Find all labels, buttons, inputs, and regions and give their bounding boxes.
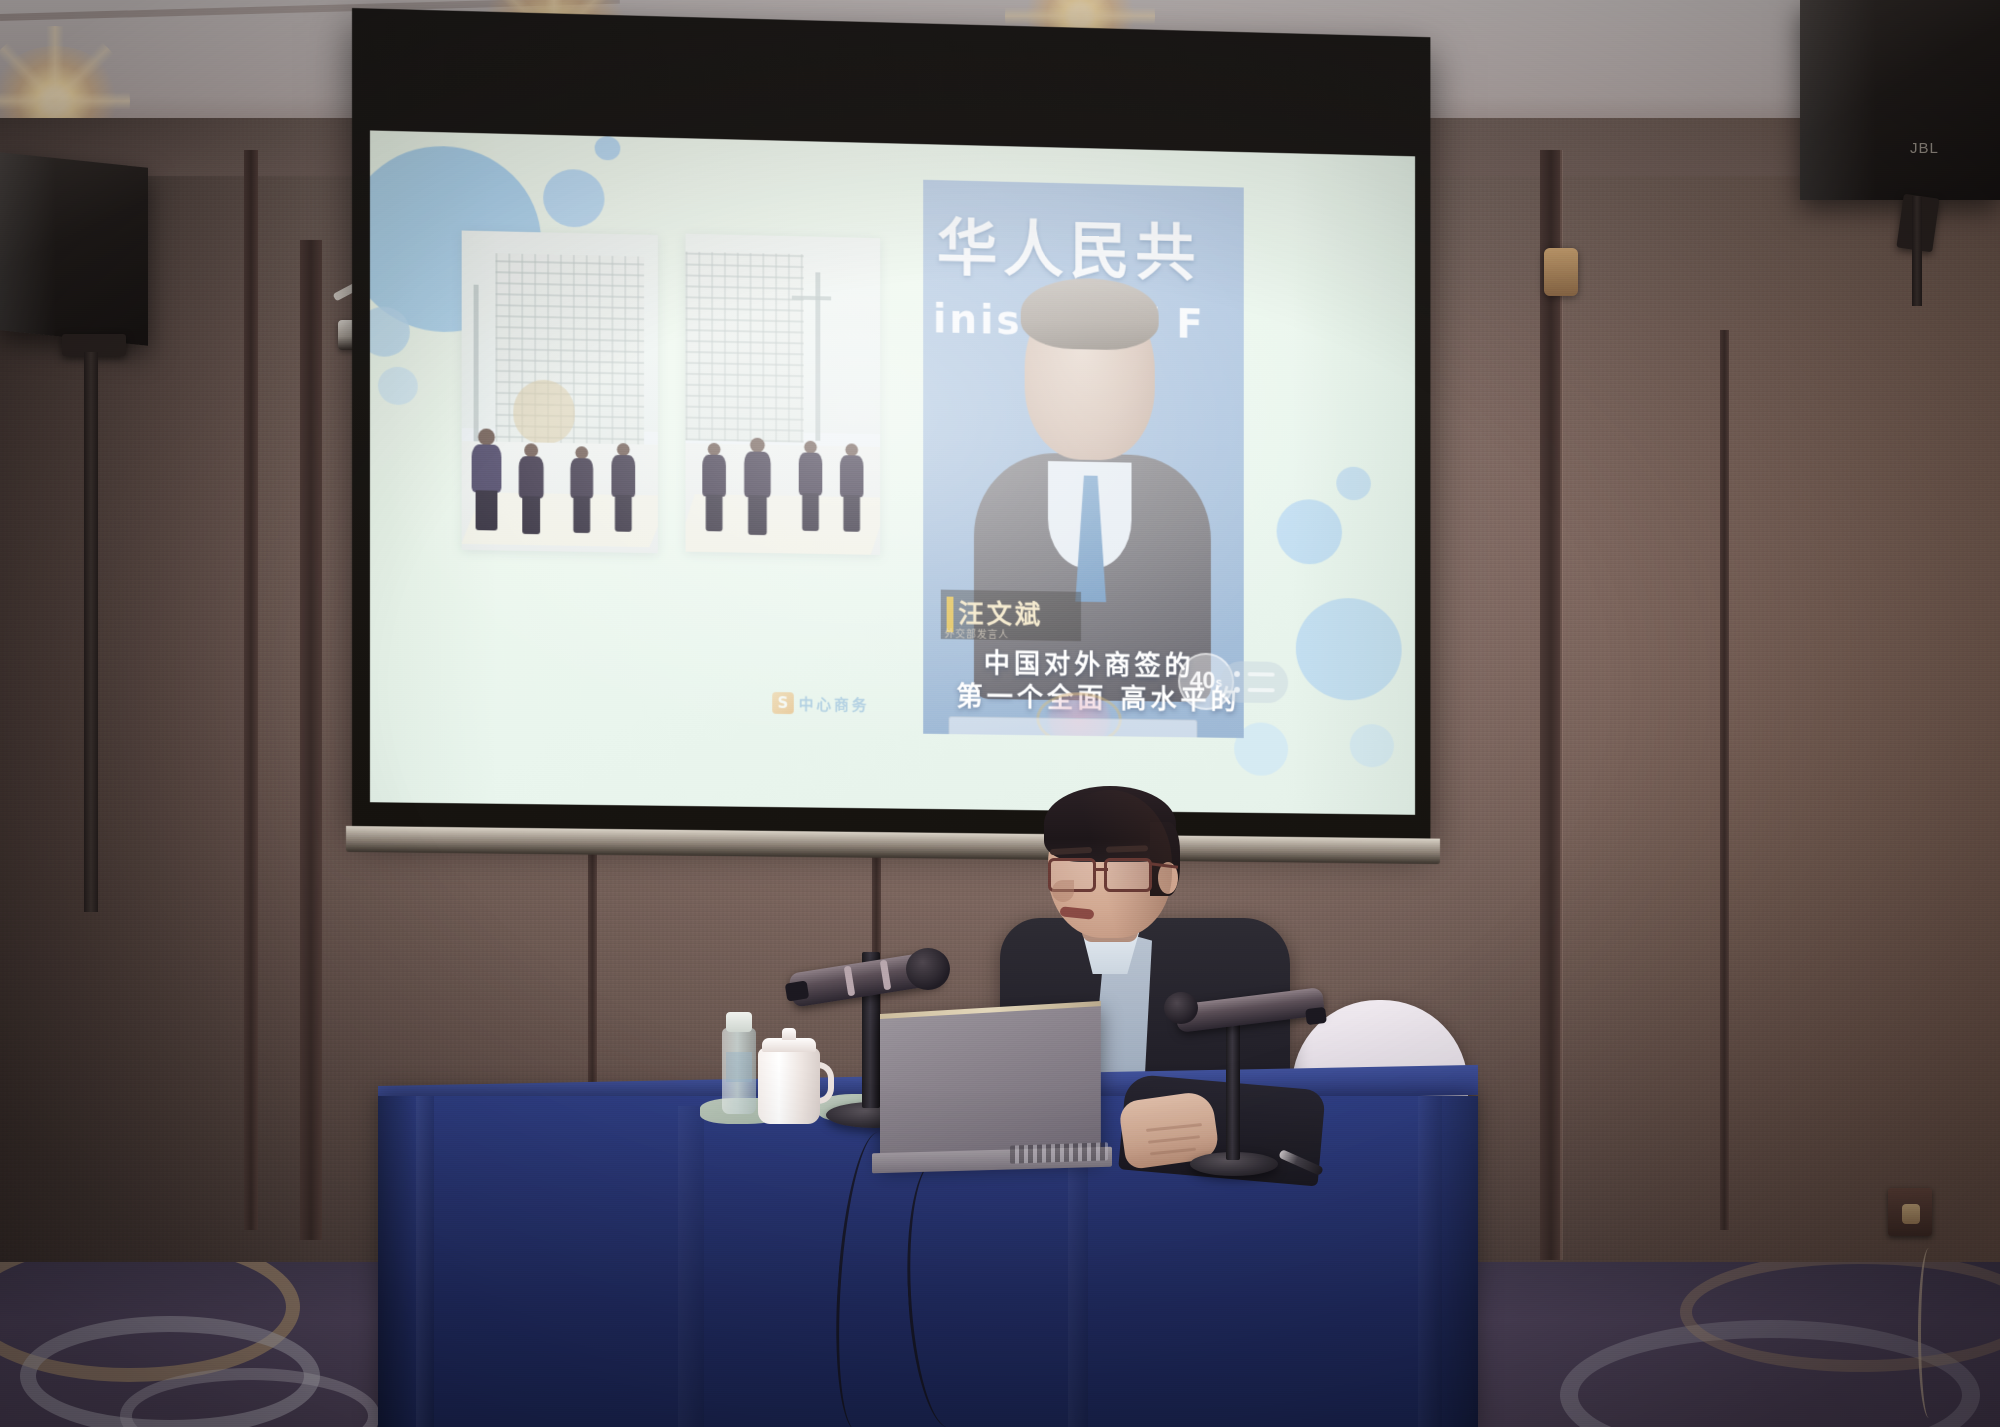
news-search-bar <box>949 716 1198 738</box>
photo-pole <box>792 296 831 301</box>
teapot-lid <box>762 1038 816 1052</box>
wall-divider-highlight <box>1560 150 1563 1260</box>
badge-dot-2 <box>1234 687 1240 693</box>
projection-screen: 华人民共 inistry of F 汪文斌 外交部发言人 中国对外商签的 第一个… <box>352 8 1430 839</box>
wall-divider-4 <box>1540 150 1562 1260</box>
photo-person <box>798 440 824 532</box>
badge-bar-1 <box>1248 672 1275 676</box>
speaker-sheen <box>0 152 56 336</box>
photo-person <box>610 443 636 533</box>
speaker-right-pole <box>1912 196 1922 306</box>
wall-outlet-plug <box>1902 1204 1920 1224</box>
white-teapot <box>758 1048 820 1124</box>
microphone-right-pole <box>1226 1024 1240 1160</box>
wall-outlet-cable <box>1918 1248 1940 1418</box>
cloth-fold <box>678 1106 704 1427</box>
photo-building-windows <box>686 252 804 443</box>
news-speaker-title: 外交部发言人 <box>945 625 1009 641</box>
slide-bubble-5 <box>378 367 418 406</box>
logo-mark: S <box>772 692 794 714</box>
photo-person <box>839 443 864 533</box>
speaker-left-pole <box>84 352 98 912</box>
table-right-shading <box>1418 1096 1478 1427</box>
photo-person <box>701 443 727 533</box>
photo-building <box>686 252 804 443</box>
wall-speaker-right: JBL <box>1800 0 2000 200</box>
microphone-right-tip <box>1305 1007 1327 1025</box>
table-left-shading <box>378 1096 418 1427</box>
photo-person <box>470 428 504 530</box>
teapot-knob <box>782 1028 796 1040</box>
microphone-right-head <box>1164 992 1198 1024</box>
wall-speaker-left <box>0 152 148 346</box>
speaker-sheen-right <box>1800 0 1876 200</box>
photo-person <box>743 437 773 535</box>
wall-sconce-right <box>1544 248 1578 296</box>
microphone-left-tip <box>785 980 810 1001</box>
logo-text: 中心商务 <box>799 693 870 715</box>
badge-value: 40 <box>1190 667 1216 695</box>
photo-person <box>517 443 545 535</box>
laptop-keyboard <box>1010 1142 1108 1163</box>
slide-badge-pill <box>1221 661 1289 703</box>
wall-divider-1 <box>300 240 322 1240</box>
projected-slide: 华人民共 inistry of F 汪文斌 外交部发言人 中国对外商签的 第一个… <box>370 130 1415 814</box>
cloth-fold <box>416 1096 434 1427</box>
slide-bubble-8 <box>1296 597 1402 701</box>
slide-bubble-3 <box>595 136 621 161</box>
water-bottle-cap <box>726 1012 752 1032</box>
badge-dot-1 <box>1234 671 1240 677</box>
slide-bubble-10 <box>1350 724 1394 768</box>
badge-bar-2 <box>1248 688 1275 692</box>
water-bottle-label <box>726 1052 752 1082</box>
slide-bubble-7 <box>1336 466 1371 500</box>
street-photo-center <box>686 234 881 555</box>
slide-bubble-6 <box>1277 499 1342 565</box>
wall-divider-5 <box>1720 330 1729 1230</box>
slide-bubble-2 <box>543 169 604 228</box>
street-photo-left <box>462 231 658 554</box>
microphone-left-head <box>906 948 950 990</box>
speaker-brand-label: JBL <box>1910 140 1939 157</box>
wall-divider-6 <box>244 150 258 1230</box>
speaker-face-shading <box>1048 790 1172 938</box>
laptop-screen-back <box>880 1001 1101 1164</box>
photo-tree <box>513 379 574 444</box>
slide-footer-logo: S 中心商务 <box>772 692 869 715</box>
conference-room-photo: JBL <box>0 0 2000 1427</box>
photo-person <box>569 446 595 534</box>
